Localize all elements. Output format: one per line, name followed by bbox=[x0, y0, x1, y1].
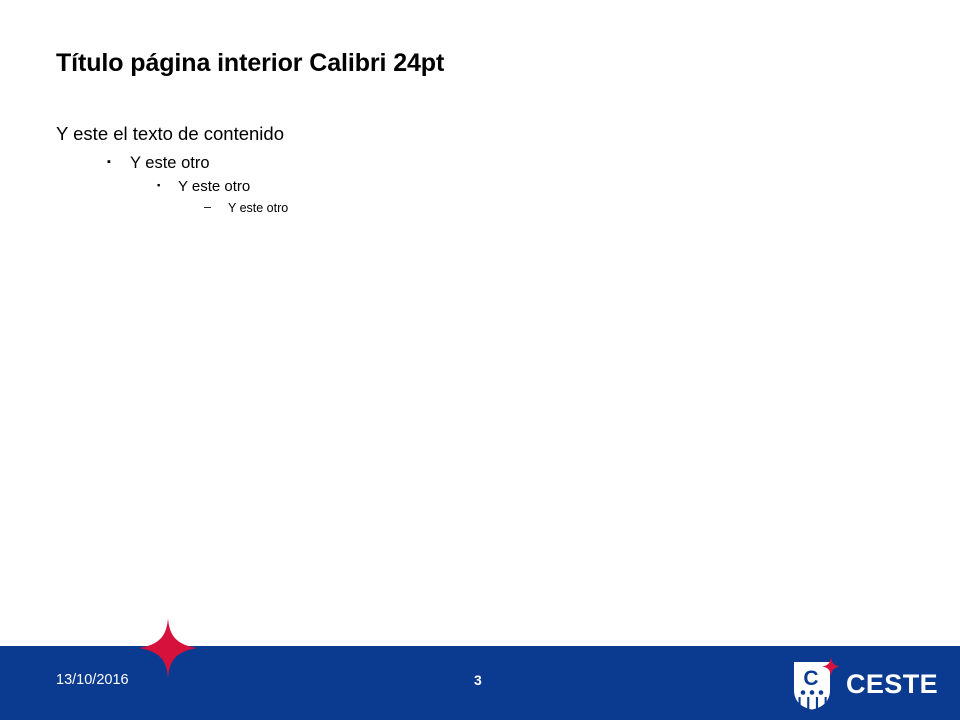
body-paragraph-level3: ▪ Y este otro bbox=[56, 178, 916, 196]
body-paragraph-level1: Y este el texto de contenido bbox=[56, 123, 916, 146]
square-bullet-icon: ▪ bbox=[157, 180, 178, 192]
svg-text:C: C bbox=[803, 667, 818, 690]
dash-bullet-icon: – bbox=[204, 200, 228, 215]
slide-body: Y este el texto de contenido ▪ Y este ot… bbox=[56, 123, 916, 216]
slide-page-number: 3 bbox=[474, 673, 482, 687]
body-paragraph-level2: ▪ Y este otro bbox=[56, 153, 916, 173]
body-text-level1: Y este el texto de contenido bbox=[56, 123, 284, 146]
body-text-level4: Y este otro bbox=[228, 201, 288, 216]
footer-date: 13/10/2016 bbox=[56, 673, 129, 688]
ceste-shield-icon: C bbox=[789, 657, 841, 713]
presentation-slide: Título página interior Calibri 24pt Y es… bbox=[0, 0, 960, 720]
ceste-wordmark: CESTE bbox=[846, 671, 938, 698]
body-text-level3: Y este otro bbox=[178, 178, 250, 196]
body-paragraph-level4: – Y este otro bbox=[56, 201, 916, 216]
decorative-star-icon bbox=[139, 618, 197, 678]
slide-title: Título página interior Calibri 24pt bbox=[56, 50, 906, 78]
ceste-logo: C CESTE bbox=[789, 657, 924, 713]
body-text-level2: Y este otro bbox=[130, 153, 210, 173]
square-bullet-icon: ▪ bbox=[107, 156, 130, 169]
